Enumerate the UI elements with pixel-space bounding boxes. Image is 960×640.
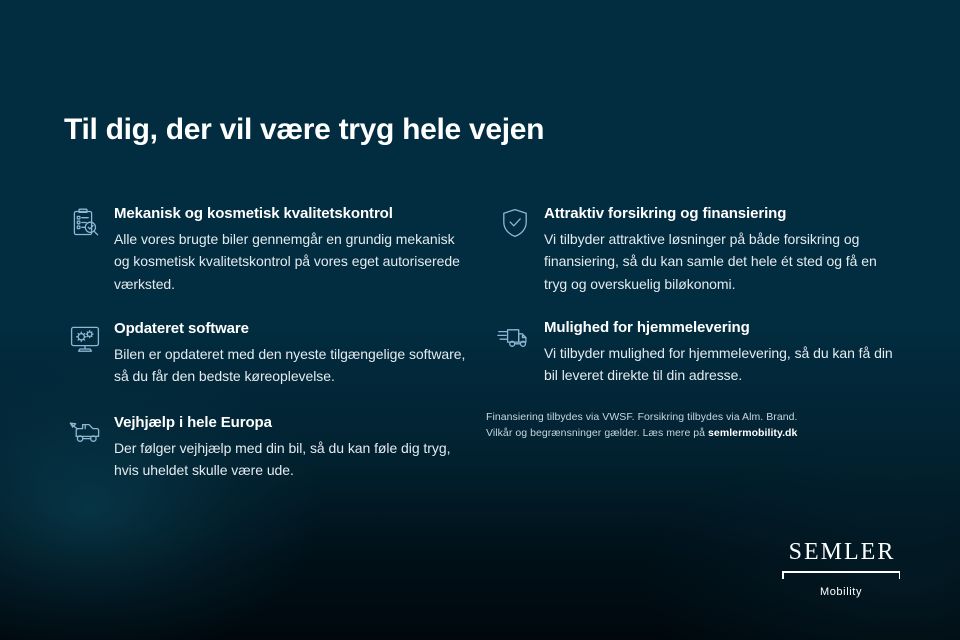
clipboard-checklist-magnifier-icon — [56, 203, 114, 243]
shield-check-icon — [486, 203, 544, 243]
feature-body: Vejhjælp i hele Europa Der følger vejhjæ… — [114, 412, 466, 482]
feature-text: Alle vores brugte biler gennemgår en gru… — [114, 228, 466, 296]
feature-body: Mekanisk og kosmetisk kvalitetskontrol A… — [114, 203, 466, 296]
feature-body: Opdateret software Bilen er opdateret me… — [114, 318, 466, 388]
feature-text: Der følger vejhjælp med din bil, så du k… — [114, 437, 466, 482]
page-root: Til dig, der vil være tryg hele vejen — [0, 0, 960, 640]
feature-title: Vejhjælp i hele Europa — [114, 414, 466, 433]
tow-truck-icon — [56, 412, 114, 452]
fineprint-disclaimer: Finansiering tilbydes via VWSF. Forsikri… — [486, 409, 856, 442]
fineprint-line-2-text: Vilkår og begrænsninger gælder. Læs mere… — [486, 427, 708, 439]
feature-item-vejhjaelp: Vejhjælp i hele Europa Der følger vejhjæ… — [56, 412, 466, 482]
feature-text: Vi tilbyder attraktive løsninger på både… — [544, 228, 896, 296]
fineprint-line-2: Vilkår og begrænsninger gælder. Læs mere… — [486, 425, 856, 442]
features-column-right: Attraktiv forsikring og finansiering Vi … — [486, 203, 896, 442]
feature-item-forsikring-finansiering: Attraktiv forsikring og finansiering Vi … — [486, 203, 896, 296]
feature-item-opdateret-software: Opdateret software Bilen er opdateret me… — [56, 318, 466, 388]
logo-tick-right — [899, 571, 901, 579]
feature-text: Bilen er opdateret med den nyeste tilgæn… — [114, 343, 466, 388]
feature-title: Mulighed for hjemmelevering — [544, 319, 896, 338]
logo-subtitle: Mobility — [780, 586, 902, 598]
logo-wordmark: SEMLER — [780, 540, 902, 564]
feature-body: Attraktiv forsikring og finansiering Vi … — [544, 203, 896, 296]
feature-item-hjemmelevering: Mulighed for hjemmelevering Vi tilbyder … — [486, 317, 896, 387]
semlermobility-link[interactable]: semlermobility.dk — [708, 427, 797, 439]
monitor-gears-icon — [56, 318, 114, 358]
logo-bracket-rule — [782, 571, 900, 580]
logo-tick-left — [782, 571, 784, 579]
features-column-left: Mekanisk og kosmetisk kvalitetskontrol A… — [56, 203, 466, 504]
delivery-truck-icon — [486, 317, 544, 357]
feature-title: Mekanisk og kosmetisk kvalitetskontrol — [114, 205, 466, 224]
page-title: Til dig, der vil være tryg hele vejen — [64, 113, 544, 147]
feature-title: Attraktiv forsikring og finansiering — [544, 205, 896, 224]
fineprint-line-1: Finansiering tilbydes via VWSF. Forsikri… — [486, 409, 856, 426]
feature-item-kvalitetskontrol: Mekanisk og kosmetisk kvalitetskontrol A… — [56, 203, 466, 296]
feature-text: Vi tilbyder mulighed for hjemmelevering,… — [544, 342, 896, 387]
feature-title: Opdateret software — [114, 320, 466, 339]
semler-mobility-logo: SEMLER Mobility — [780, 540, 902, 598]
feature-body: Mulighed for hjemmelevering Vi tilbyder … — [544, 317, 896, 387]
